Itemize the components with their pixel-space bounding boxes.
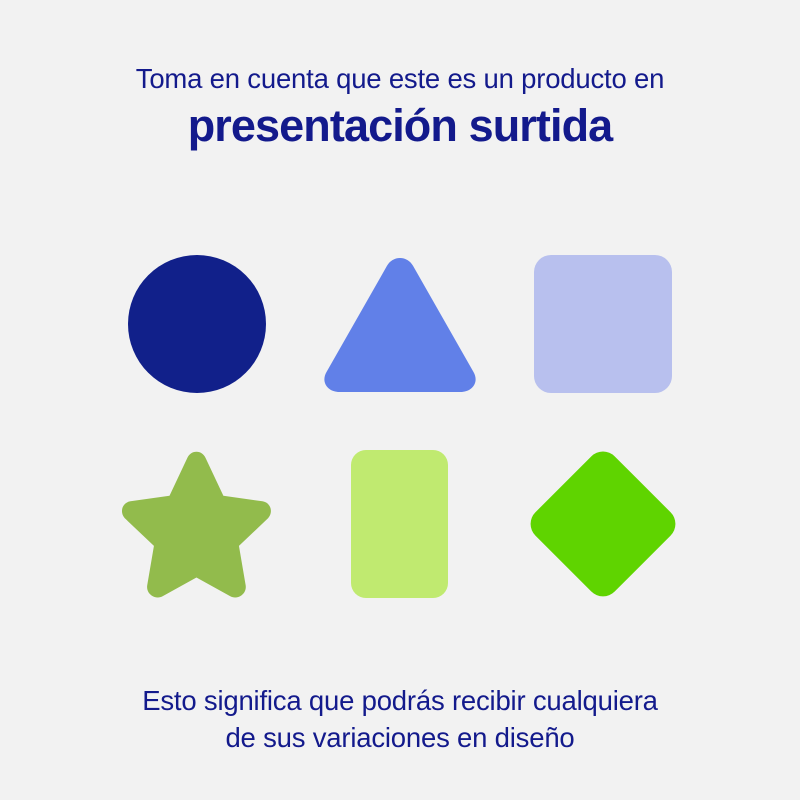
circle-icon <box>127 254 267 394</box>
diamond-shape-path <box>523 445 682 604</box>
assorted-presentation-banner: Toma en cuenta que este es un producto e… <box>0 0 800 800</box>
triangle-shape-path <box>324 258 475 392</box>
triangle-icon <box>321 255 479 393</box>
footer-line-1: Esto significa que podrás recibir cualqu… <box>0 682 800 719</box>
headline-line-2: presentación surtida <box>0 100 800 152</box>
shape-cell-rounded-rect <box>299 424 502 624</box>
circle-shape-path <box>128 255 266 393</box>
shape-variations-grid <box>96 224 704 624</box>
star-shape-path <box>122 452 271 598</box>
square-icon <box>534 255 672 393</box>
rounded-rect-icon <box>351 450 448 598</box>
page-title: Toma en cuenta que este es un producto e… <box>0 62 800 152</box>
star-icon <box>119 450 275 598</box>
shape-cell-diamond <box>501 424 704 624</box>
rounded-rect-shape-path <box>351 450 448 598</box>
diamond-icon <box>522 443 684 605</box>
shape-cell-star <box>96 424 299 624</box>
shape-cell-circle <box>96 224 299 424</box>
shape-cell-square <box>501 224 704 424</box>
square-shape-path <box>534 255 672 393</box>
footer-line-2: de sus variaciones en diseño <box>0 719 800 756</box>
shape-cell-triangle <box>299 224 502 424</box>
headline-line-1: Toma en cuenta que este es un producto e… <box>0 62 800 96</box>
footer-description: Esto significa que podrás recibir cualqu… <box>0 682 800 756</box>
